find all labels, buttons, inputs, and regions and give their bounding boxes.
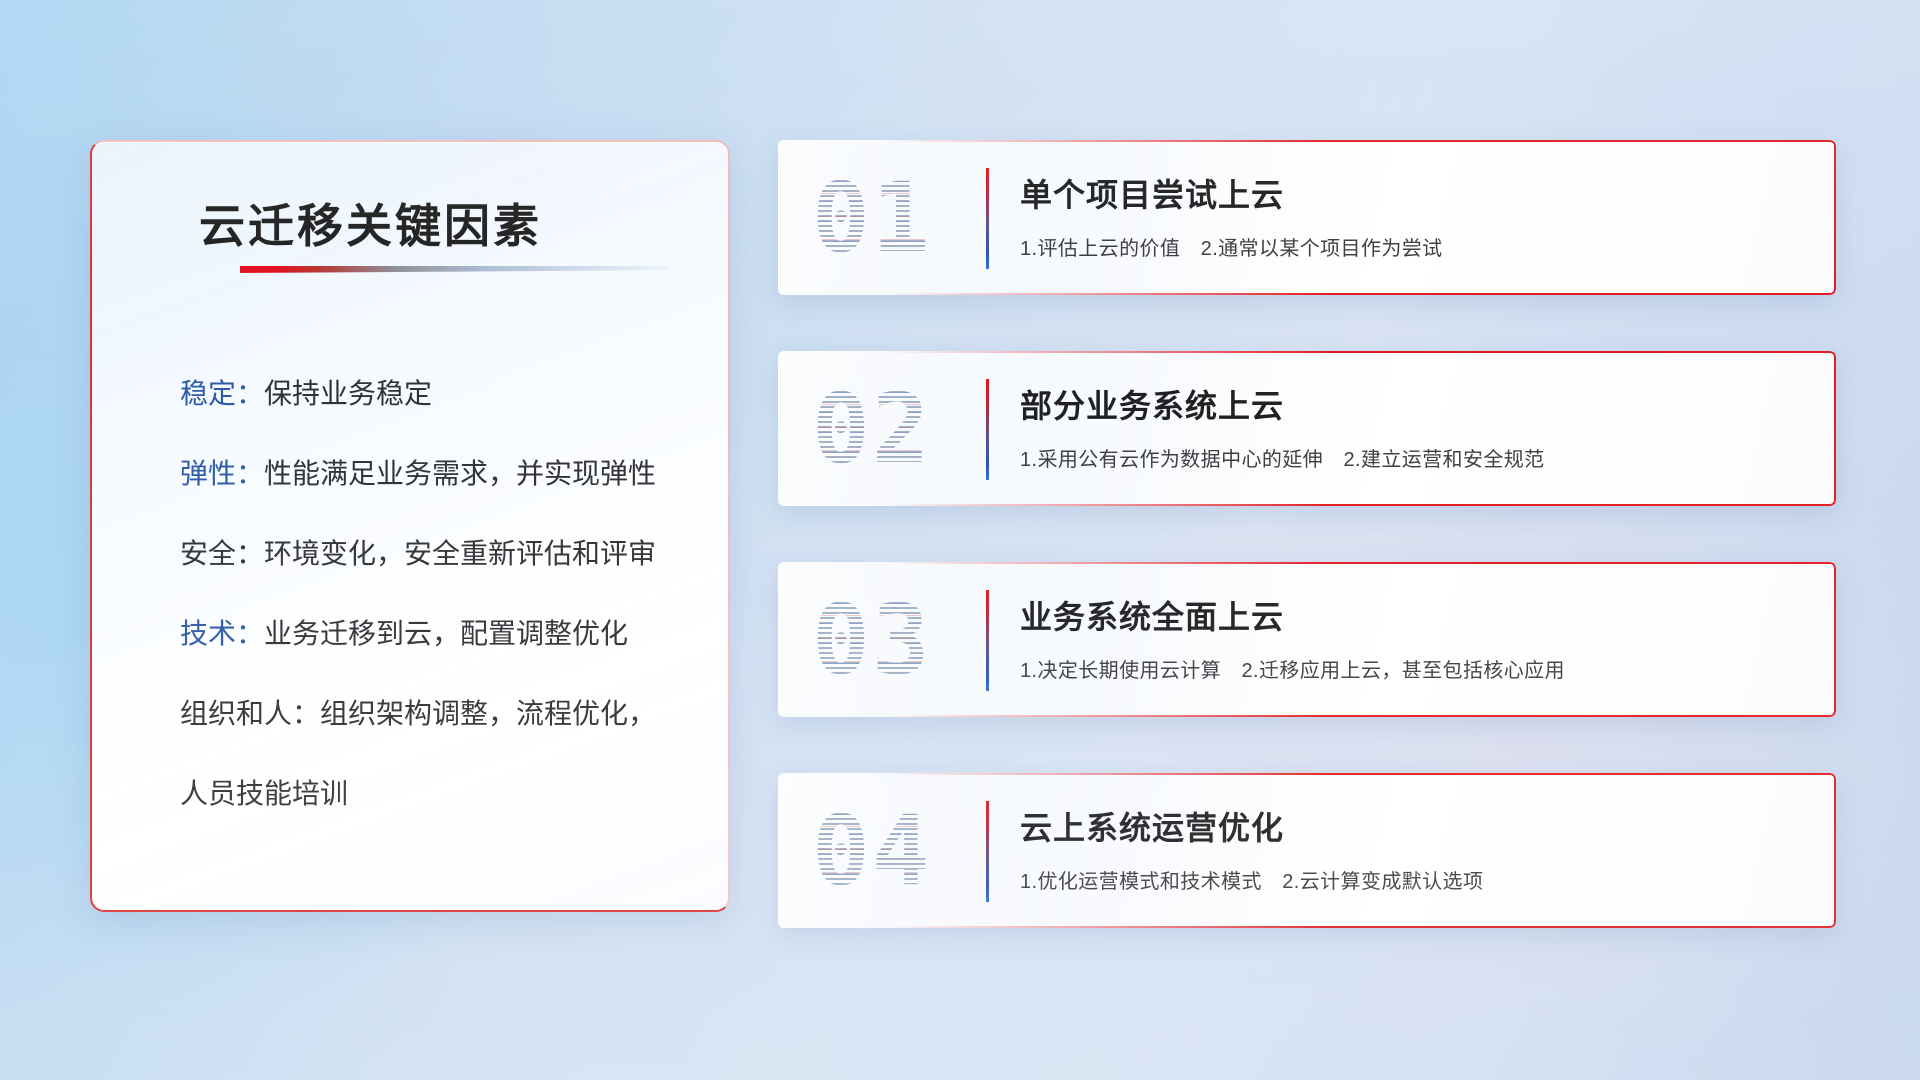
factor-value: 性能满足业务需求，并实现弹性 bbox=[264, 458, 656, 489]
factor-label: 技术： bbox=[180, 618, 264, 649]
step-card[interactable]: 01 单个项目尝试上云 1.评估上云的价值 2.通常以某个项目作为尝试 bbox=[778, 140, 1836, 295]
step-number: 01 bbox=[812, 170, 932, 266]
step-number: 03 bbox=[812, 592, 932, 688]
migration-steps-list: 01 单个项目尝试上云 1.评估上云的价值 2.通常以某个项目作为尝试 02 部… bbox=[778, 140, 1836, 928]
step-description: 1.决定长期使用云计算 2.迁移应用上云，甚至包括核心应用 bbox=[1020, 654, 1806, 683]
factor-label: 安全： bbox=[180, 538, 264, 569]
factor-value: 保持业务稳定 bbox=[264, 378, 432, 409]
factor-value: 业务迁移到云，配置调整优化 bbox=[264, 618, 628, 649]
factor-value: 人员技能培训 bbox=[180, 778, 348, 809]
factor-item: 组织和人：组织架构调整，流程优化， bbox=[180, 700, 688, 728]
step-body: 云上系统运营优化 1.优化运营模式和技术模式 2.云计算变成默认选项 bbox=[1020, 803, 1806, 894]
step-card[interactable]: 04 云上系统运营优化 1.优化运营模式和技术模式 2.云计算变成默认选项 bbox=[778, 773, 1836, 928]
factor-label: 弹性： bbox=[180, 458, 264, 489]
factor-label: 稳定： bbox=[180, 378, 264, 409]
step-number: 02 bbox=[812, 381, 932, 477]
step-accent-divider bbox=[986, 168, 989, 269]
step-body: 业务系统全面上云 1.决定长期使用云计算 2.迁移应用上云，甚至包括核心应用 bbox=[1020, 592, 1806, 683]
step-number: 04 bbox=[812, 803, 932, 899]
step-title: 单个项目尝试上云 bbox=[1020, 170, 1806, 216]
slide-canvas: 云迁移关键因素 稳定：保持业务稳定 弹性：性能满足业务需求，并实现弹性 安全：环… bbox=[0, 0, 1920, 1080]
step-accent-divider bbox=[986, 801, 989, 902]
step-title: 业务系统全面上云 bbox=[1020, 592, 1806, 638]
factor-label: 组织和人： bbox=[180, 698, 320, 729]
step-title: 部分业务系统上云 bbox=[1020, 381, 1806, 427]
factor-value: 组织架构调整，流程优化， bbox=[320, 698, 656, 729]
factor-item: 安全：环境变化，安全重新评估和评审 bbox=[180, 540, 688, 568]
factor-item: 弹性：性能满足业务需求，并实现弹性 bbox=[180, 460, 688, 488]
factor-item: 稳定：保持业务稳定 bbox=[180, 380, 688, 408]
step-accent-divider bbox=[986, 590, 989, 691]
key-factors-panel: 云迁移关键因素 稳定：保持业务稳定 弹性：性能满足业务需求，并实现弹性 安全：环… bbox=[90, 140, 730, 912]
step-card[interactable]: 03 业务系统全面上云 1.决定长期使用云计算 2.迁移应用上云，甚至包括核心应… bbox=[778, 562, 1836, 717]
step-body: 单个项目尝试上云 1.评估上云的价值 2.通常以某个项目作为尝试 bbox=[1020, 170, 1806, 261]
factor-value: 环境变化，安全重新评估和评审 bbox=[264, 538, 656, 569]
page-title: 云迁移关键因素 bbox=[199, 190, 542, 256]
step-title: 云上系统运营优化 bbox=[1020, 803, 1806, 849]
step-card[interactable]: 02 部分业务系统上云 1.采用公有云作为数据中心的延伸 2.建立运营和安全规范 bbox=[778, 351, 1836, 506]
factor-list: 稳定：保持业务稳定 弹性：性能满足业务需求，并实现弹性 安全：环境变化，安全重新… bbox=[180, 380, 688, 808]
factor-item: 技术：业务迁移到云，配置调整优化 bbox=[180, 620, 688, 648]
step-description: 1.采用公有云作为数据中心的延伸 2.建立运营和安全规范 bbox=[1020, 443, 1806, 472]
step-description: 1.评估上云的价值 2.通常以某个项目作为尝试 bbox=[1020, 232, 1806, 261]
step-accent-divider bbox=[986, 379, 989, 480]
title-underline-rule bbox=[240, 266, 670, 273]
step-body: 部分业务系统上云 1.采用公有云作为数据中心的延伸 2.建立运营和安全规范 bbox=[1020, 381, 1806, 472]
step-description: 1.优化运营模式和技术模式 2.云计算变成默认选项 bbox=[1020, 865, 1806, 894]
factor-item-continuation: 人员技能培训 bbox=[180, 780, 688, 808]
